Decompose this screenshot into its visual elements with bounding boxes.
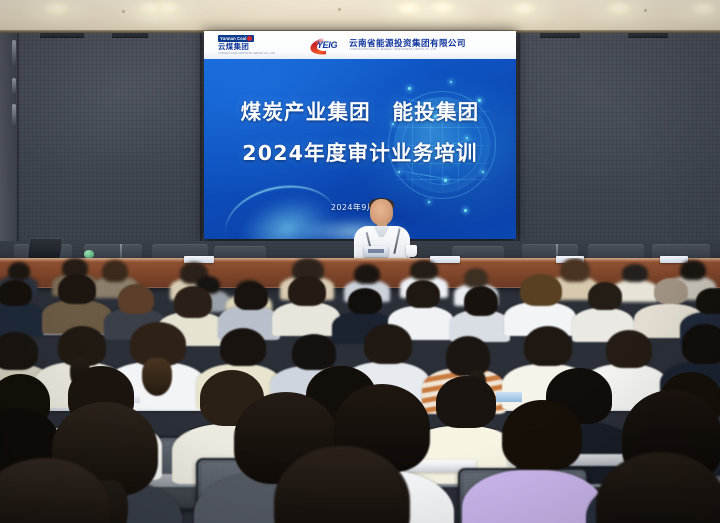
- wall-left-column: [0, 33, 16, 265]
- speaker-water-cup: [406, 245, 417, 257]
- slide-header-banner: Yunnan Coal 云煤集团 YUNNAN COAL INDUSTRY GR…: [204, 31, 516, 59]
- wall-highlight: [12, 78, 16, 94]
- logo-chinese-name: 云煤集团: [218, 43, 249, 50]
- logo-english-top: Yunnan Coal: [220, 36, 246, 41]
- wall-seam: [518, 33, 520, 265]
- ceiling-lights: [0, 0, 720, 33]
- ceiling-vent: [40, 33, 84, 38]
- logo-english-sub: YUNNAN COAL INDUSTRY GROUP CO.,LTD: [218, 52, 275, 55]
- wall-seam: [17, 33, 19, 265]
- yunnan-coal-group-logo: Yunnan Coal 云煤集团 YUNNAN COAL INDUSTRY GR…: [218, 35, 282, 54]
- conference-room-photo: Yunnan Coal 云煤集团 YUNNAN COAL INDUSTRY GR…: [0, 0, 720, 523]
- wall-highlight: [12, 40, 16, 66]
- wall-highlight: [12, 104, 16, 126]
- ceiling-vent: [540, 33, 580, 38]
- logo-dot-icon: [247, 36, 252, 41]
- stage-laptop: [27, 238, 63, 259]
- audience-area: [0, 258, 720, 523]
- slide-title-block: 煤炭产业集团 能投集团 2024年度审计业务培训: [204, 95, 516, 166]
- company-english-name: YUNNAN PROVINCIAL ENERGY INVESTMENT GROU…: [349, 48, 466, 51]
- company-chinese-name: 云南省能源投资集团有限公司: [349, 39, 466, 48]
- presenter-speaker: [352, 199, 412, 261]
- yeig-swoosh-icon: YEIG: [310, 37, 344, 54]
- speaker-nameplate: [364, 246, 388, 257]
- green-cup: [84, 250, 94, 258]
- ceiling-vent: [112, 33, 148, 38]
- ceiling-vent: [628, 33, 668, 38]
- slide-title-line-2: 2024年度审计业务培训: [204, 136, 516, 166]
- desk-tablet: [496, 392, 522, 402]
- wall-seam: [200, 33, 202, 265]
- yeig-mark-text: YEIG: [310, 37, 344, 54]
- yeig-logo: YEIG 云南省能源投资集团有限公司 YUNNAN PROVINCIAL ENE…: [310, 37, 466, 54]
- slide-title-line-1: 煤炭产业集团 能投集团: [204, 95, 516, 125]
